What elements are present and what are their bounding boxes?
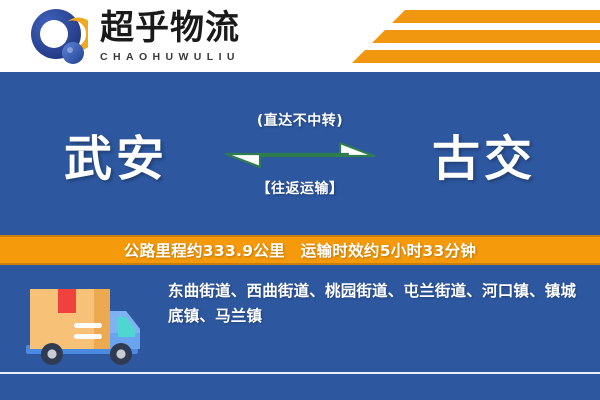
direct-service-note: (直达不中转) xyxy=(257,110,343,130)
destination-city: 古交 xyxy=(384,119,584,189)
header-stripes-decoration xyxy=(350,8,600,68)
roundtrip-note: 【往返运输】 xyxy=(257,178,344,198)
origin-city: 武安 xyxy=(16,119,216,189)
brand-name-cn: 超乎物流 xyxy=(100,11,240,45)
brand-name-en: CHAOHUWULIU xyxy=(100,52,240,63)
stripe-1 xyxy=(392,10,600,23)
circle-crescent-logo-icon xyxy=(30,8,88,66)
coverage-areas-text: 东曲街道、西曲街道、桃园街道、屯兰街道、河口镇、镇城底镇、马兰镇 xyxy=(168,279,582,329)
delivery-truck-icon xyxy=(22,281,148,371)
bidirectional-arrows-icon xyxy=(222,136,378,172)
distance-duration-bar: 公路里程约333.9公里 运输时效约5小时33分钟 xyxy=(0,235,600,265)
brand-logo: 超乎物流 CHAOHUWULIU xyxy=(30,8,240,66)
route-panel: 武安 (直达不中转) 【往返运输】 古交 xyxy=(0,72,600,235)
distance-duration-text: 公路里程约333.9公里 运输时效约5小时33分钟 xyxy=(124,239,476,261)
coverage-section: 东曲街道、西曲街道、桃园街道、屯兰街道、河口镇、镇城底镇、马兰镇 xyxy=(0,267,600,400)
route-middle: (直达不中转) 【往返运输】 xyxy=(216,99,384,209)
logistics-route-banner: 超乎物流 CHAOHUWULIU 武安 (直达不中转) 【往返运输】 xyxy=(0,0,600,400)
brand-text: 超乎物流 CHAOHUWULIU xyxy=(100,11,240,63)
stripe-3 xyxy=(352,50,600,63)
bottom-divider xyxy=(0,372,600,374)
stripe-2 xyxy=(372,30,600,43)
banner-header: 超乎物流 CHAOHUWULIU xyxy=(0,0,600,72)
